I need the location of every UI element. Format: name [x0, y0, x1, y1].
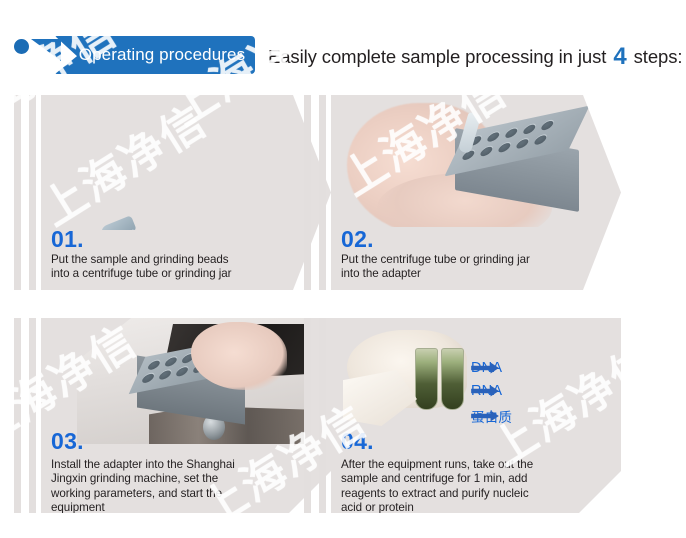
card-4-stripes: [304, 318, 326, 513]
adapter-hole: [522, 124, 537, 135]
stripe: [304, 95, 311, 290]
adapter-hole: [175, 366, 190, 377]
adapter-hole: [163, 356, 178, 367]
step-2-illustration: [331, 95, 593, 227]
stripe: [319, 95, 326, 290]
step-3-number: 03.: [51, 428, 84, 455]
stripe: [304, 318, 311, 513]
adapter-hole: [486, 131, 501, 142]
stripe: [14, 95, 21, 290]
adapter-hole: [533, 134, 548, 145]
output-row-rna: RNA: [471, 383, 502, 399]
sample-tube-icon: [415, 348, 438, 410]
adapter-hole: [504, 128, 519, 139]
card-3-stripes: [14, 318, 36, 513]
stripe: [14, 318, 21, 513]
step-2-number: 02.: [341, 226, 374, 253]
step-card-2[interactable]: 02. Put the centrifuge tube or grinding …: [331, 95, 621, 290]
arrow-right-icon: [471, 362, 501, 375]
step-4-number: 04.: [341, 428, 374, 455]
arrow-right-icon: [471, 410, 501, 423]
card-1-stripes: [14, 95, 36, 290]
step-1-description: Put the sample and grinding beads into a…: [51, 253, 303, 282]
step-2-description: Put the centrifuge tube or grinding jar …: [341, 253, 593, 282]
output-row-dna: DNA: [471, 360, 502, 376]
step-card-1[interactable]: 01. Put the sample and grinding beads in…: [41, 95, 331, 290]
step-card-3[interactable]: 03. Install the adapter into the Shangha…: [41, 318, 331, 513]
step-1-illustration: [41, 95, 291, 230]
stripe: [319, 318, 326, 513]
stripe: [29, 318, 36, 513]
steps-grid: 01. Put the sample and grinding beads in…: [0, 0, 686, 538]
output-row-protein: 蛋白质: [471, 406, 512, 426]
sample-tube-icon: [441, 348, 464, 410]
card-2-stripes: [304, 95, 326, 290]
adapter-hole: [158, 370, 173, 381]
tube-cap: [99, 215, 137, 230]
adapter-hole: [141, 373, 156, 384]
step-3-description: Install the adapter into the Shanghai Ji…: [51, 458, 299, 513]
adapter-hole: [146, 360, 161, 371]
adapter-hole: [515, 138, 530, 149]
tube-hinge: [130, 229, 145, 230]
step-4-description: After the equipment runs, take out the s…: [341, 458, 591, 513]
adapter-hole: [497, 142, 512, 153]
adapter-hole: [540, 120, 555, 131]
step-3-illustration: [41, 318, 309, 444]
stripe: [29, 95, 36, 290]
adapter-hole: [479, 146, 494, 157]
step-card-4[interactable]: DNA RNA 蛋白质 04. After the equipment runs…: [331, 318, 621, 513]
step-1-number: 01.: [51, 226, 84, 253]
arrow-right-icon: [471, 385, 501, 398]
